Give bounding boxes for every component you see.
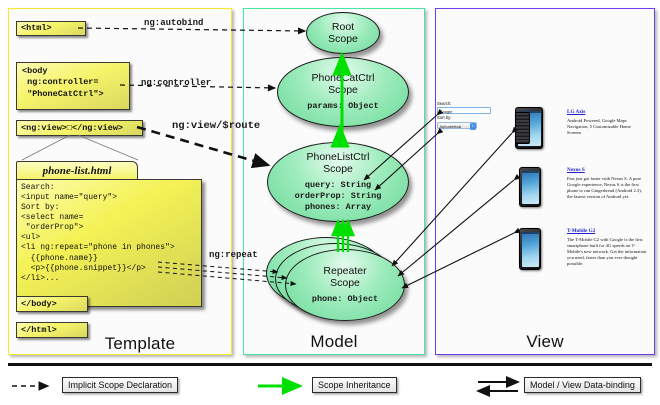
- note-filename: phone-list.html: [16, 161, 138, 181]
- phone-link-tmobile-g2[interactable]: T-Mobile G2: [567, 228, 649, 234]
- scope-phonelistctrl-title-l2: Scope: [323, 163, 353, 175]
- phone-image-nexus-s: [519, 167, 541, 207]
- sort-select-value: Alphabetical: [440, 124, 462, 129]
- phone-keyboard-lg-axis: [515, 112, 528, 142]
- legend-label-model-view-data-binding: Model / View Data-binding: [524, 377, 641, 393]
- phone-link-nexus-s[interactable]: Nexus S: [567, 167, 647, 173]
- phone-image-tmobile-g2: [519, 228, 541, 270]
- template-note-phone-list: phone-list.html Search: <input name="que…: [16, 161, 206, 311]
- search-input[interactable]: Google: [437, 107, 491, 114]
- link-label-ng-autobind: ng:autobind: [144, 18, 203, 28]
- phone-info: LG Axis Android Powered, Google Maps Nav…: [567, 109, 645, 136]
- scope-root: Root Scope: [306, 12, 380, 54]
- phone-snippet-lg-axis: Android Powered, Google Maps Navigation,…: [567, 118, 645, 137]
- scope-phonecatctrl-title-l2: Scope: [328, 84, 358, 96]
- scope-phonelistctrl-props: query: String orderProp: String phones: …: [295, 180, 382, 213]
- tag-body-close: </body>: [16, 296, 88, 312]
- legend-label-implicit-scope-declaration: Implicit Scope Declaration: [62, 377, 178, 393]
- phone-info: Nexus S Fast just got faster with Nexus …: [567, 167, 647, 200]
- scope-root-title-l2: Scope: [328, 33, 358, 45]
- scope-phonecatctrl-title-l1: PhoneCatCtrl: [311, 72, 374, 84]
- panel-model-label: Model: [244, 332, 424, 352]
- scope-phonecatctrl-props: params: Object: [307, 101, 378, 112]
- legend-divider: [8, 363, 652, 366]
- diagram-canvas: Template Model View <html> <body ng:cont…: [0, 0, 660, 405]
- scope-root-title-l1: Root: [332, 21, 354, 33]
- link-label-ng-controller: ng:controller: [141, 78, 211, 88]
- sort-select[interactable]: Alphabetical ↕: [437, 122, 477, 130]
- scope-repeater: Repeater Scope phone: Object: [285, 249, 405, 321]
- scope-repeater-title-l2: Scope: [330, 277, 360, 289]
- phone-link-lg-axis[interactable]: LG Axis: [567, 109, 645, 115]
- note-code: Search: <input name="query"> Sort by: <s…: [16, 179, 202, 307]
- phone-snippet-nexus-s: Fast just got faster with Nexus S. A pur…: [567, 176, 647, 201]
- scope-repeater-title-l1: Repeater: [323, 265, 366, 277]
- link-label-ng-view-route: ng:view/$route: [172, 120, 260, 132]
- chevron-updown-icon: ↕: [470, 123, 476, 130]
- tag-html-close: </html>: [16, 322, 88, 338]
- scope-phonelistctrl-title-l1: PhoneListCtrl: [306, 151, 369, 163]
- view-search-form: Search: Google Sort by: Alphabetical ↕: [437, 101, 497, 129]
- tag-ngview: <ng:view>□</ng:view>: [16, 120, 143, 136]
- link-label-ng-repeat: ng:repeat: [209, 250, 258, 260]
- scope-repeater-props: phone: Object: [312, 294, 378, 305]
- legend: Implicit Scope Declaration Scope Inherit…: [0, 372, 660, 400]
- phone-info: T-Mobile G2 The T-Mobile G2 with Google …: [567, 228, 649, 268]
- tag-html-open: <html>: [16, 21, 86, 36]
- panel-view-label: View: [436, 332, 654, 352]
- sort-label: Sort by:: [437, 115, 497, 121]
- scope-phonecatctrl: PhoneCatCtrl Scope params: Object: [277, 57, 409, 127]
- phone-snippet-tmobile-g2: The T-Mobile G2 with Google is the first…: [567, 237, 649, 268]
- tag-body-open: <body ng:controller= "PhoneCatCtrl">: [16, 62, 130, 110]
- legend-label-scope-inheritance: Scope Inheritance: [312, 377, 397, 393]
- scope-phonelistctrl: PhoneListCtrl Scope query: String orderP…: [267, 142, 409, 222]
